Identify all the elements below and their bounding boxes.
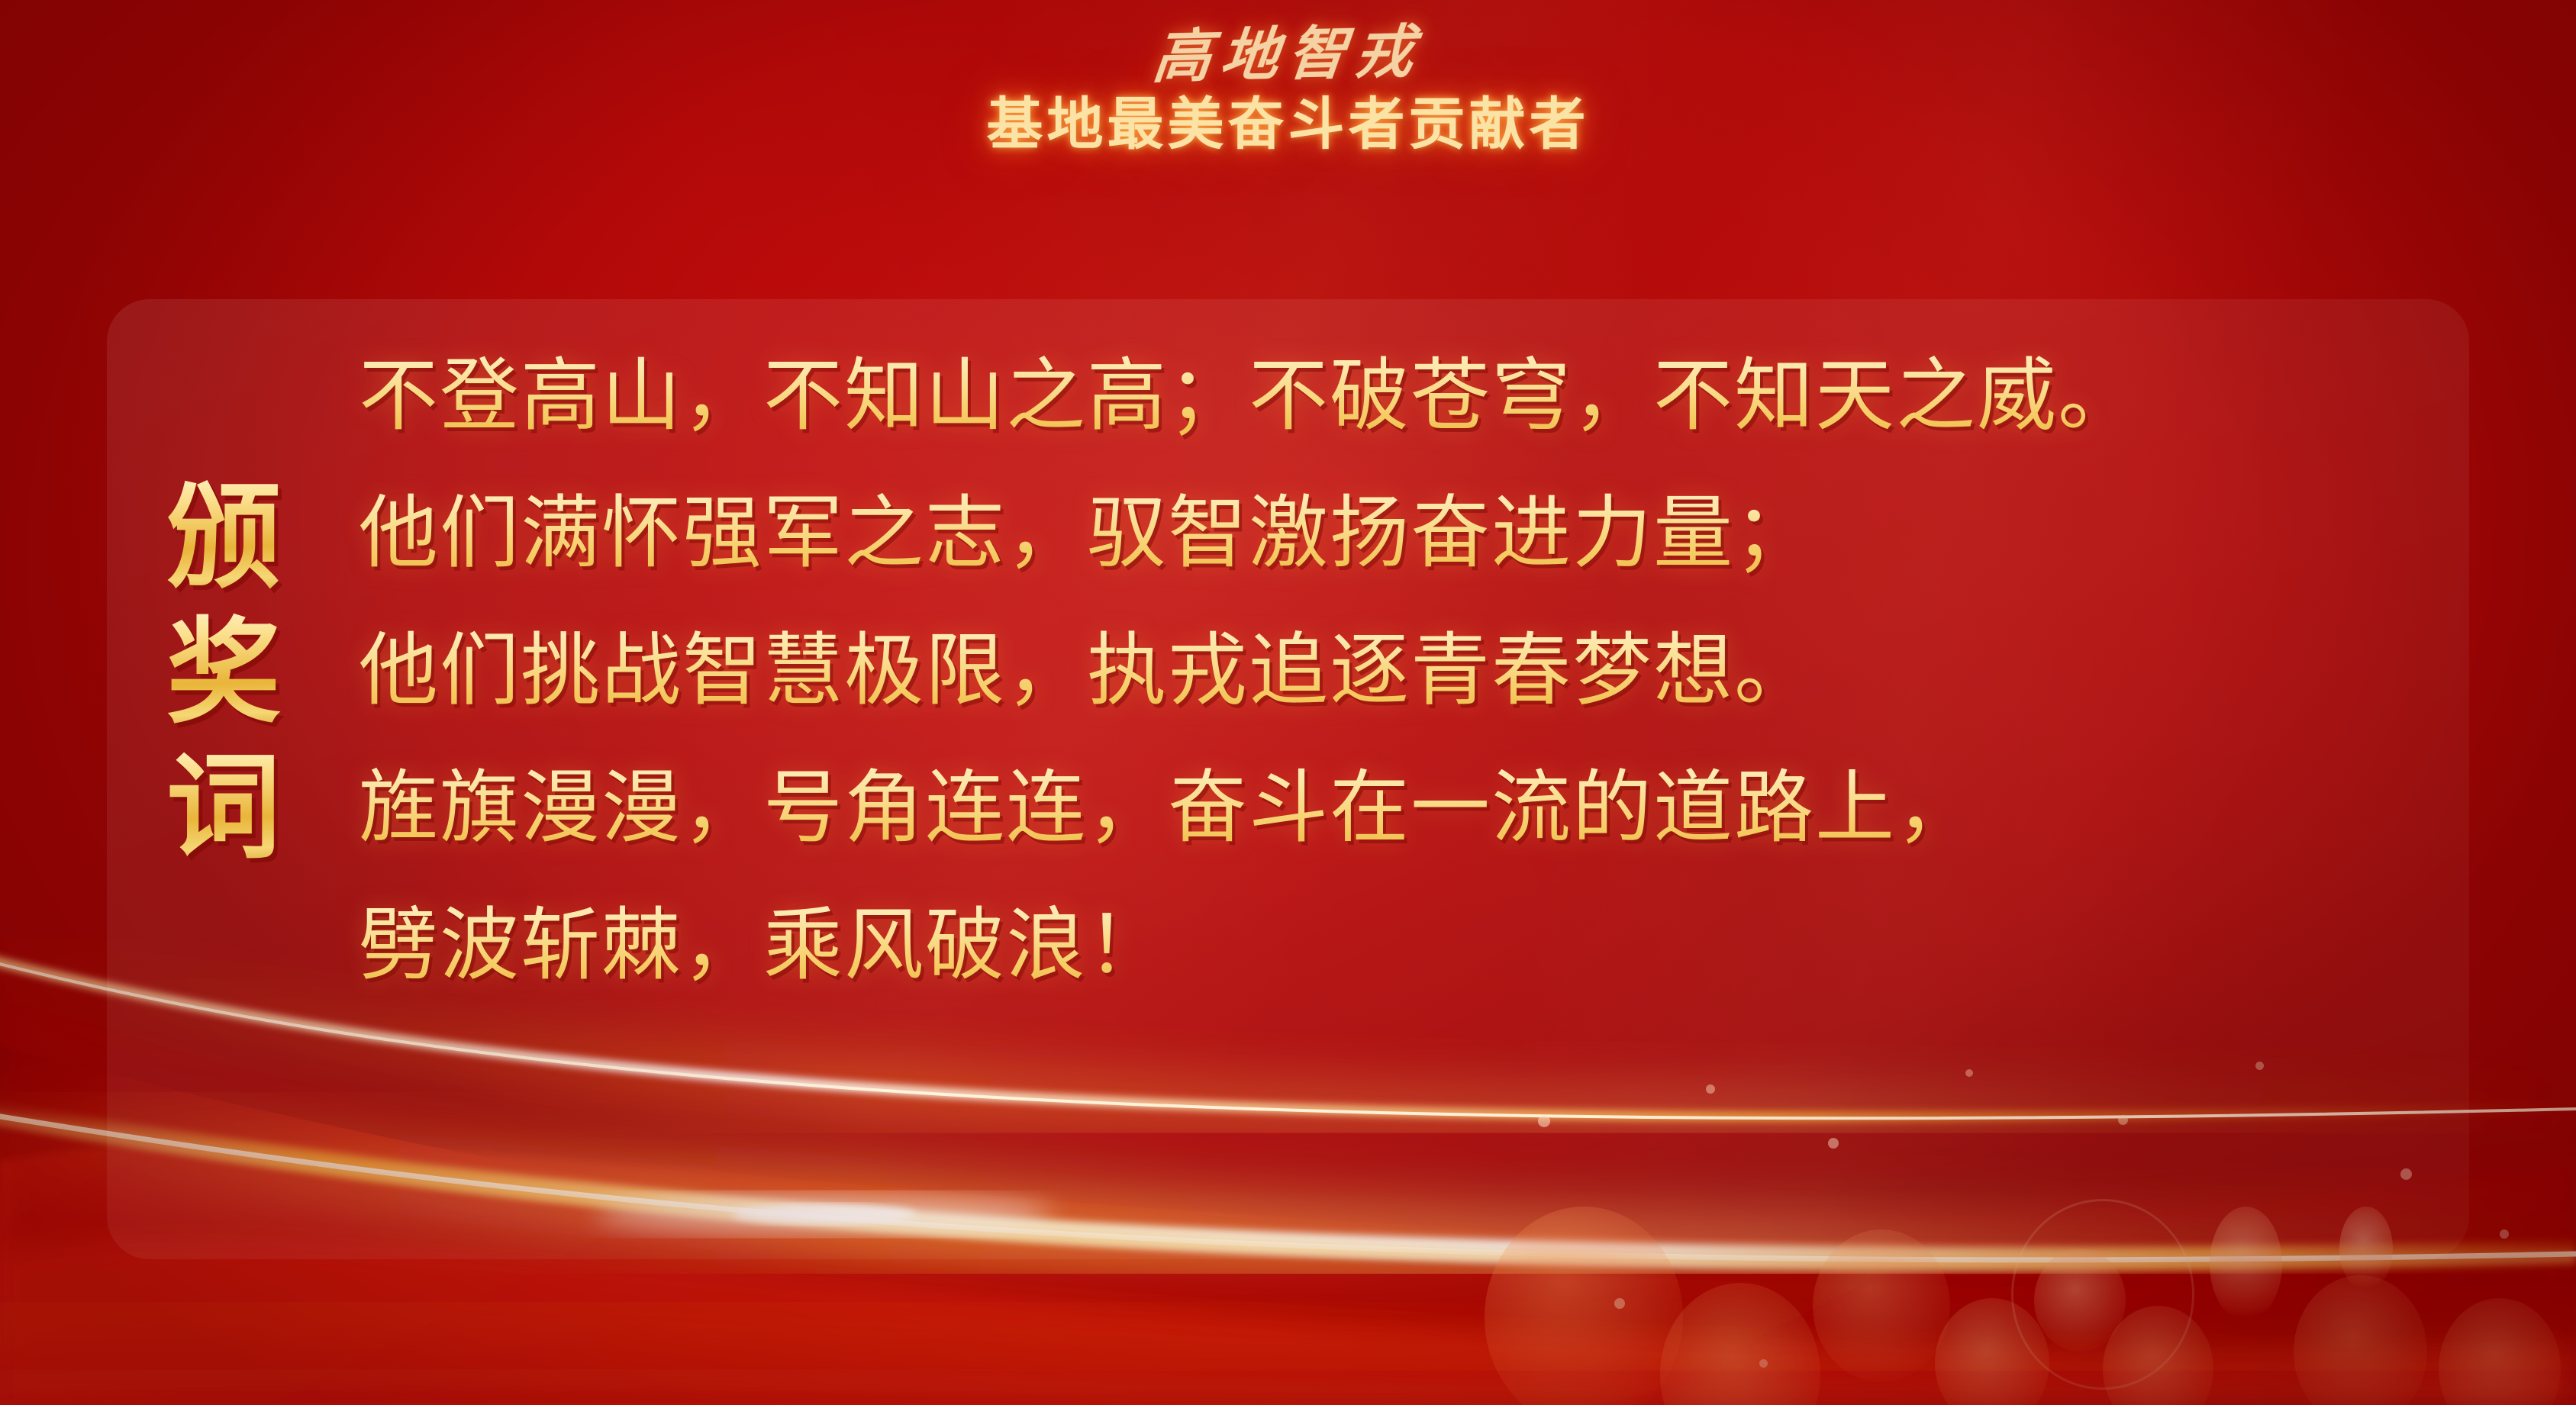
citation-line: 他们满怀强军之志，驭智激扬奋进力量； <box>359 466 2488 603</box>
citation-line: 不登高山，不知山之高；不破苍穹，不知天之威。 <box>359 328 2488 466</box>
vertical-label-char: 颁 <box>143 472 304 607</box>
vertical-label-char: 词 <box>143 742 304 877</box>
citation-line: 劈波斩棘，乘风破浪！ <box>359 878 2488 1015</box>
slide-canvas: 高地智戎 基地最美奋斗者贡献者 颁 奖 词 不登高山，不知山之高；不破苍穹，不知… <box>0 0 2576 1405</box>
citation-line: 旌旗漫漫，号角连连，奋斗在一流的道路上， <box>359 740 2488 878</box>
vertical-label-char: 奖 <box>143 607 304 742</box>
vertical-label-award-citation: 颁 奖 词 <box>143 472 304 877</box>
citation-line: 他们挑战智慧极限，执戎追逐青春梦想。 <box>359 603 2488 740</box>
header: 高地智戎 基地最美奋斗者贡献者 <box>0 0 2576 154</box>
award-citation-text: 不登高山，不知山之高；不破苍穹，不知天之威。 他们满怀强军之志，驭智激扬奋进力量… <box>359 328 2488 1015</box>
page-title: 基地最美奋斗者贡献者 <box>0 95 2576 154</box>
